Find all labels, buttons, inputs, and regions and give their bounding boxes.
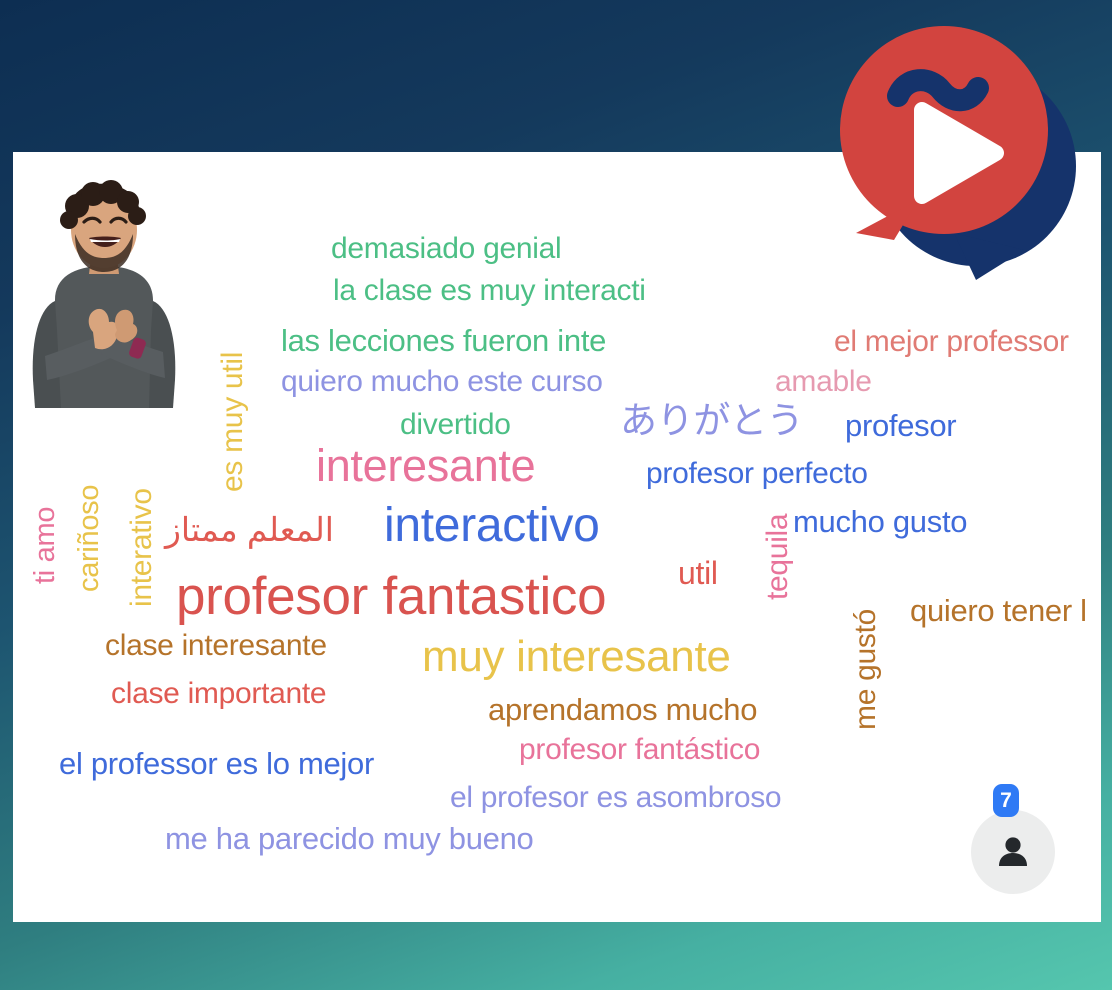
word-cloud-item: interactivo [384,502,599,550]
speech-bubble-play-logo [826,18,1088,280]
word-cloud-item: quiero mucho este curso [281,367,603,397]
word-cloud-item: المعلم ممتاز [165,513,334,546]
word-cloud-item: profesor [845,410,956,441]
word-cloud-item: mucho gusto [793,506,967,537]
word-cloud-item: interesante [316,443,535,488]
word-cloud-item: clase importante [111,679,326,709]
word-cloud-item: el mejor professor [834,327,1069,357]
participant-badge[interactable]: 7 [971,810,1055,894]
word-cloud-item: profesor perfecto [646,459,868,489]
word-cloud-item: cariñoso [75,485,104,592]
word-cloud-item: quiero tener l [910,595,1087,626]
word-cloud-item: profesor fantastico [176,570,606,623]
word-cloud-item: clase interesante [105,631,327,661]
word-cloud-item: profesor fantástico [519,735,760,765]
word-cloud-item: ありがとう [620,402,804,439]
presentation-slide: demasiado genialla clase es muy interact… [0,0,1112,990]
word-cloud-item: util [678,557,718,589]
word-cloud-item: amable [775,367,872,397]
word-cloud-item: el profesor es asombroso [450,783,781,813]
person-icon [993,832,1033,872]
word-cloud-item: aprendamos mucho [488,694,757,725]
avatar[interactable] [971,810,1055,894]
word-cloud-item: divertido [400,410,511,440]
participant-count-badge: 7 [993,784,1019,817]
word-cloud-item: ti amo [31,507,60,584]
word-cloud-item: las lecciones fueron inte [281,325,606,356]
presenter-photo [21,180,187,415]
word-cloud-item: la clase es muy interacti [333,276,646,306]
word-cloud-item: tequila [763,514,793,600]
word-cloud-item: muy interesante [422,635,731,679]
word-cloud-item: demasiado genial [331,234,561,264]
word-cloud-item: me gustó [851,609,881,730]
word-cloud-item: es muy util [218,352,248,492]
word-cloud-item: me ha parecido muy bueno [165,823,533,854]
word-cloud-item: interativo [127,488,157,607]
word-cloud-item: el professor es lo mejor [59,748,374,779]
